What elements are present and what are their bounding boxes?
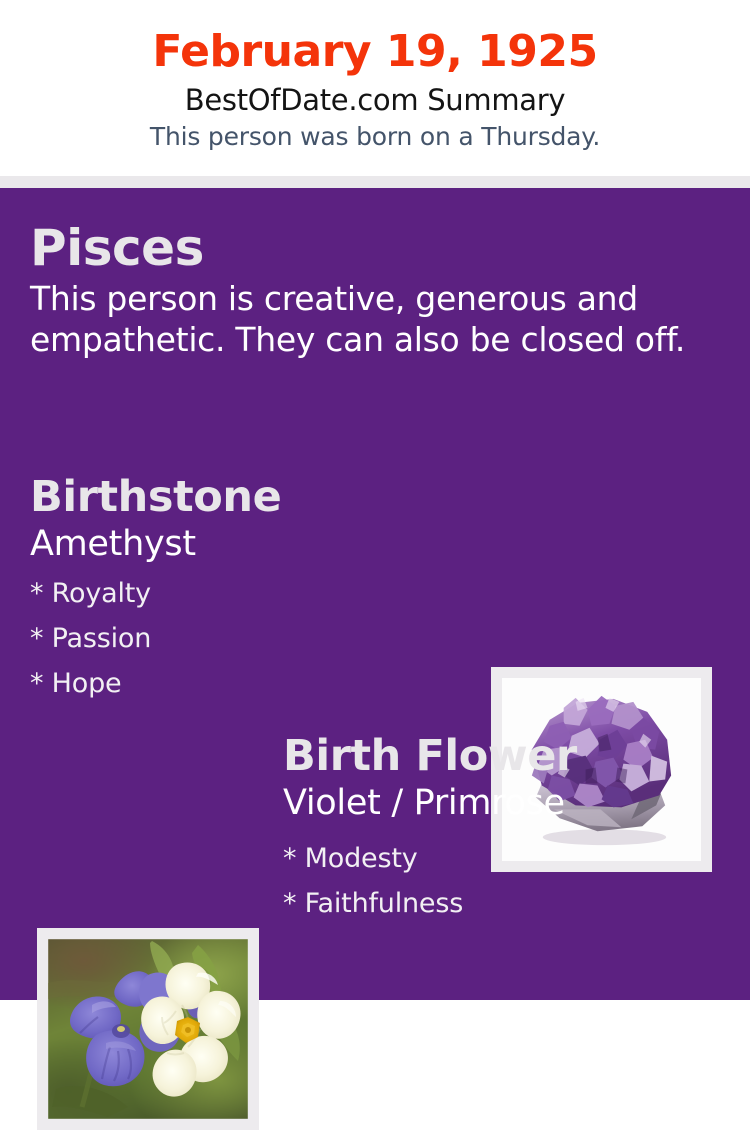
site-summary-subtitle: BestOfDate.com Summary — [0, 80, 750, 120]
birth-flower-trait-list: * Modesty * Faithfulness — [283, 836, 723, 926]
summary-panel: Pisces This person is creative, generous… — [0, 188, 750, 1000]
list-item: * Faithfulness — [283, 881, 723, 926]
list-item: * Hope — [30, 661, 470, 706]
violet-and-primrose-icon — [48, 939, 248, 1119]
birthstone-trait-list: * Royalty * Passion * Hope — [30, 571, 470, 706]
list-item: * Royalty — [30, 571, 470, 616]
birth-flower-image-frame — [37, 928, 259, 1130]
page-title-date: February 19, 1925 — [0, 24, 750, 80]
list-item: * Passion — [30, 616, 470, 661]
list-item: * Modesty — [283, 836, 723, 881]
weekday-statement: This person was born on a Thursday. — [0, 120, 750, 154]
zodiac-section: Pisces This person is creative, generous… — [30, 218, 710, 360]
birthstone-section: Birthstone Amethyst * Royalty * Passion … — [30, 471, 470, 706]
birth-flower-name: Violet / Primrose — [283, 782, 723, 824]
zodiac-description: This person is creative, generous and em… — [30, 278, 705, 360]
header-divider — [0, 176, 750, 188]
birth-flower-section: Birth Flower Violet / Primrose * Modesty… — [283, 730, 723, 926]
zodiac-sign-name: Pisces — [30, 218, 710, 278]
birthstone-title: Birthstone — [30, 471, 470, 523]
birth-flower-image — [48, 939, 248, 1119]
page-header: February 19, 1925 BestOfDate.com Summary… — [0, 0, 750, 176]
birth-flower-title: Birth Flower — [283, 730, 723, 782]
birthstone-name: Amethyst — [30, 523, 470, 565]
